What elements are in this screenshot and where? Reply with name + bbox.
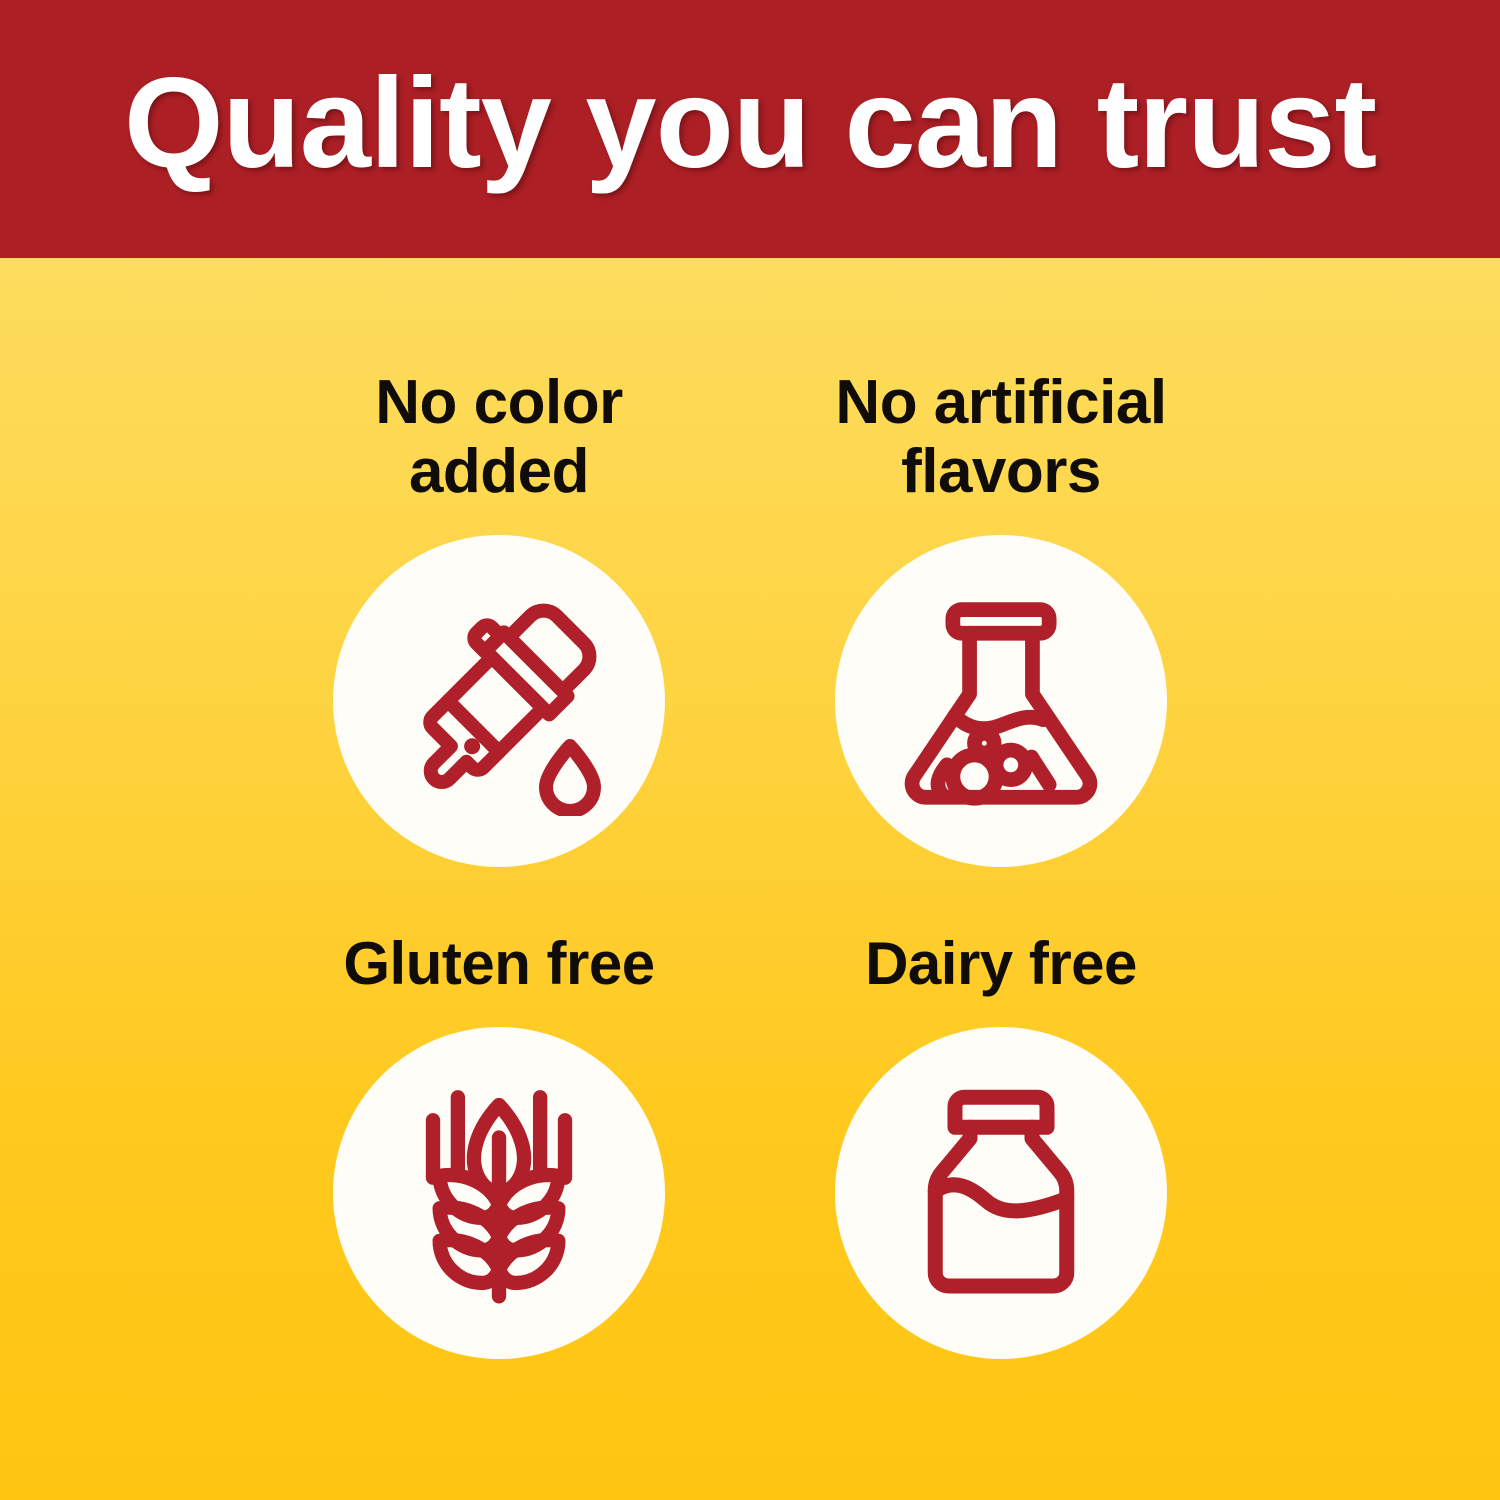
feature-grid: No color added [0, 258, 1500, 1500]
feature-tile-no-color-added: No color added [219, 368, 779, 867]
feature-label-no-color-added: No color added [219, 368, 779, 507]
feature-label-dairy-free: Dairy free [721, 930, 1281, 997]
feature-label-line2: flavors [721, 437, 1281, 506]
feature-label-line1: Gluten free [219, 930, 779, 997]
page-title: Quality you can trust [0, 60, 1500, 188]
feature-badge-dairy-free [835, 1027, 1167, 1359]
feature-badge-no-artificial-flavors [835, 535, 1167, 867]
milk-bottle-icon [893, 1078, 1109, 1308]
quality-badges-poster: Quality you can trust No color added [0, 0, 1500, 1500]
feature-label-no-artificial-flavors: No artificial flavors [721, 368, 1281, 507]
feature-tile-gluten-free: Gluten free [219, 930, 779, 1359]
feature-label-line2: added [219, 437, 779, 506]
feature-label-line1: No artificial [721, 368, 1281, 437]
feature-tile-dairy-free: Dairy free [721, 930, 1281, 1359]
dropper-icon [384, 586, 614, 816]
flask-icon [888, 588, 1114, 814]
header-banner: Quality you can trust [0, 0, 1500, 258]
wheat-icon [389, 1078, 609, 1308]
feature-label-gluten-free: Gluten free [219, 930, 779, 997]
feature-badge-gluten-free [333, 1027, 665, 1359]
feature-tile-no-artificial-flavors: No artificial flavors [721, 368, 1281, 867]
feature-badge-no-color-added [333, 535, 665, 867]
feature-label-line1: Dairy free [721, 930, 1281, 997]
feature-label-line1: No color [219, 368, 779, 437]
